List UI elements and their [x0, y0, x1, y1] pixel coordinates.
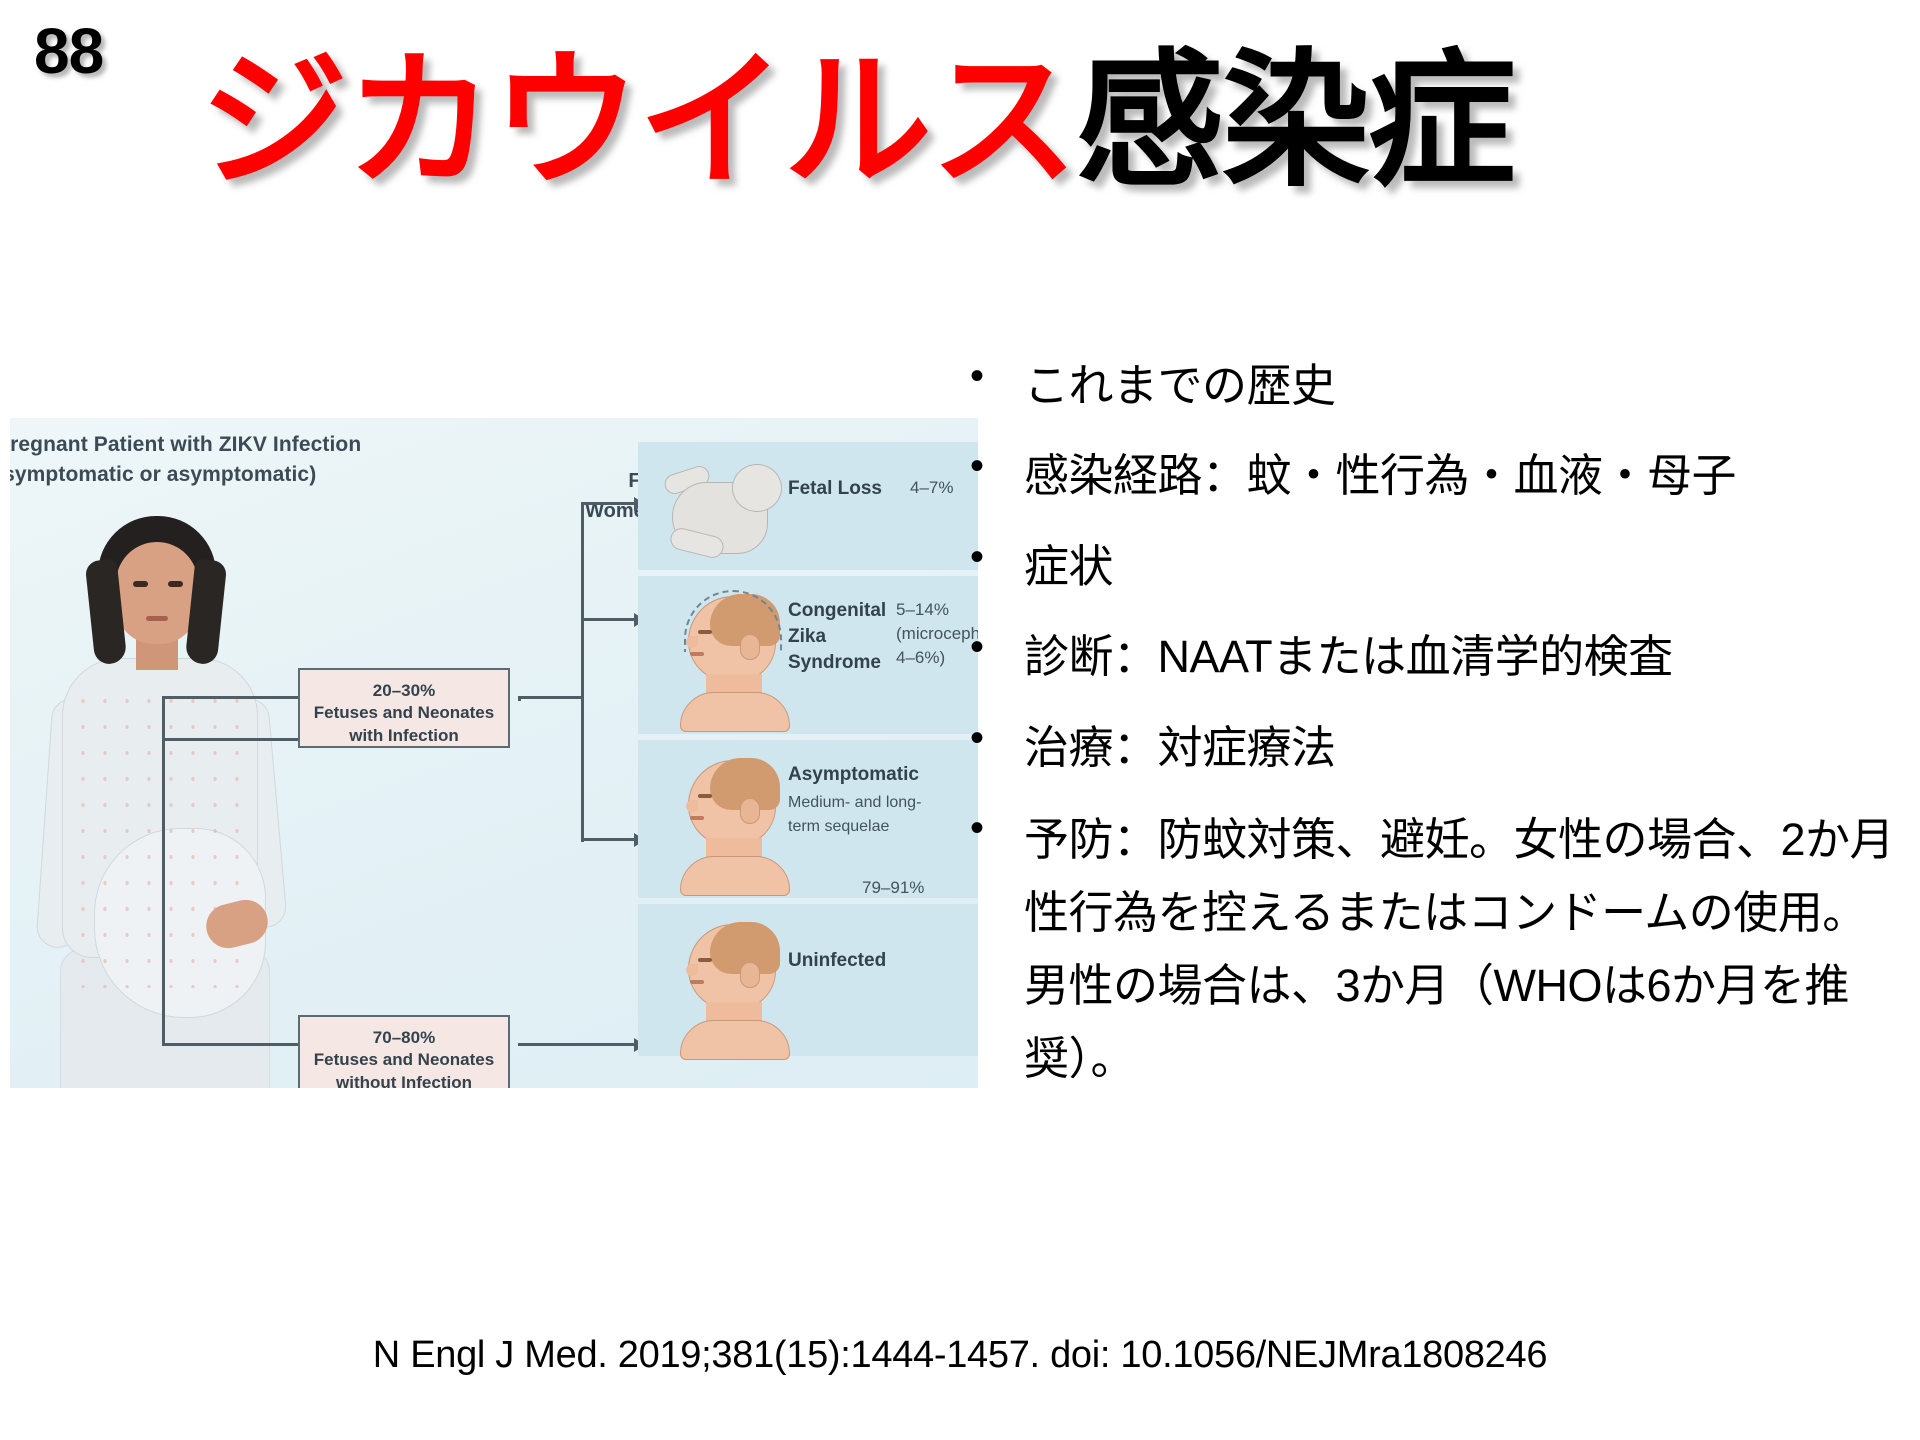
baby-microcephaly-illustration: [666, 592, 796, 728]
connector-to-infected: [162, 696, 298, 699]
figure-header-left-line2: (symptomatic or asymptomatic): [10, 460, 361, 490]
slide-number: 88: [34, 14, 103, 88]
flow-box-uninfected: 70–80% Fetuses and Neonates without Infe…: [298, 1015, 510, 1088]
baby-mouth: [690, 652, 704, 656]
page-title: ジカウイルス感染症: [200, 38, 1860, 207]
citation-text: N Engl J Med. 2019;381(15):1444-1457. do…: [0, 1334, 1920, 1377]
bullet-marker: •: [962, 804, 1024, 853]
panel-sub-asymptomatic-line2: term sequelae: [788, 816, 948, 838]
connector-to-uninfected: [162, 1043, 298, 1046]
eye-right: [168, 581, 183, 587]
baby-eye: [698, 958, 712, 962]
baby-nose: [686, 964, 698, 976]
figure-header-left: Pregnant Patient with ZIKV Infection (sy…: [10, 430, 361, 491]
panel-label-czs-line3: Syndrome: [788, 650, 908, 676]
bullet-text: 予防：防蚊対策、避妊。女性の場合、2か月性行為を控えるまたはコンドームの使用。男…: [1024, 804, 1904, 1096]
baby-shoulder: [680, 692, 790, 732]
pregnant-woman-illustration: [20, 498, 290, 1078]
connector-branch-czs: [581, 618, 635, 621]
slide-canvas: 88 ジカウイルス感染症 Pregnant Patient with ZIKV …: [0, 0, 1920, 1440]
outcome-panel-congenital-zika: Congenital Zika Syndrome 5–14% (microcep…: [638, 576, 978, 734]
bullet-text: これまでの歴史: [1024, 352, 1904, 420]
outcome-panel-asymptomatic: Asymptomatic Medium- and long- term sequ…: [638, 740, 978, 898]
outcome-panel-fetal-loss: Fetal Loss 4–7%: [638, 442, 978, 570]
list-item: • 予防：防蚊対策、避妊。女性の場合、2か月性行為を控えるまたはコンドームの使用…: [962, 804, 1904, 1096]
connector-infected-right: [518, 696, 584, 699]
eye-left: [133, 581, 148, 587]
flow-box-infected-line2: with Infection: [308, 725, 500, 747]
flow-box-infected-line1: Fetuses and Neonates: [308, 702, 500, 724]
flow-box-uninfected-line2: without Infection: [308, 1072, 500, 1088]
mouth-shape: [146, 616, 168, 621]
panel-label-uninfected: Uninfected: [788, 948, 978, 974]
panel-sub-asymptomatic-line1: Medium- and long-: [788, 792, 948, 814]
flow-box-infected-pct: 20–30%: [308, 680, 500, 702]
baby-ear: [740, 798, 760, 824]
connector-branch-vertical: [581, 502, 584, 842]
panel-label-czs-line2: Zika: [788, 624, 908, 650]
baby-mouth: [690, 816, 704, 820]
baby-shoulder: [680, 856, 790, 896]
bullet-marker: •: [962, 442, 1024, 491]
connector-uninfected-right: [518, 1043, 636, 1046]
flow-box-uninfected-line1: Fetuses and Neonates: [308, 1049, 500, 1071]
nejm-figure: Pregnant Patient with ZIKV Infection (sy…: [10, 418, 978, 1088]
fetus-illustration: [660, 454, 790, 574]
baby-ear: [740, 962, 760, 988]
title-black-part: 感染症: [1076, 39, 1514, 204]
list-item: • これまでの歴史: [962, 352, 1904, 420]
bullet-marker: •: [962, 352, 1024, 401]
outcome-panel-uninfected: Uninfected: [638, 904, 978, 1056]
baby-mouth: [690, 980, 704, 984]
baby-shoulder: [680, 1020, 790, 1060]
figure-floating-percentage: 79–91%: [862, 878, 924, 898]
connector-branch-fetal-loss: [581, 502, 635, 505]
bullet-text: 治療：対症療法: [1024, 714, 1904, 782]
list-item: • 感染経路：蚊・性行為・血液・母子: [962, 442, 1904, 510]
baby-eye: [698, 794, 712, 798]
panel-label-czs-line1: Congenital: [788, 598, 908, 624]
face-shape: [116, 542, 198, 644]
baby-eye: [698, 630, 712, 634]
figure-header-left-line1: Pregnant Patient with ZIKV Infection: [10, 430, 361, 460]
bullet-marker: •: [962, 623, 1024, 672]
baby-asymptomatic-illustration: [666, 756, 796, 892]
flow-box-infected: 20–30% Fetuses and Neonates with Infecti…: [298, 668, 510, 748]
fetus-head: [732, 464, 782, 512]
connector-branch-asymptomatic: [581, 838, 635, 841]
bullet-text: 診断：NAATまたは血清学的検査: [1024, 623, 1904, 691]
baby-uninfected-illustration: [666, 920, 796, 1056]
list-item: • 治療：対症療法: [962, 714, 1904, 782]
list-item: • 症状: [962, 533, 1904, 601]
connector-trunk-vertical: [162, 696, 165, 1046]
bullet-text: 症状: [1024, 533, 1904, 601]
flow-box-uninfected-pct: 70–80%: [308, 1027, 500, 1049]
panel-label-asymptomatic: Asymptomatic: [788, 762, 978, 788]
bullet-text: 感染経路：蚊・性行為・血液・母子: [1024, 442, 1904, 510]
list-item: • 診断：NAATまたは血清学的検査: [962, 623, 1904, 691]
baby-nose: [686, 800, 698, 812]
title-red-part: ジカウイルス: [200, 39, 1076, 204]
bullet-marker: •: [962, 714, 1024, 763]
bullet-marker: •: [962, 533, 1024, 582]
baby-nose: [686, 636, 698, 648]
baby-ear: [740, 634, 760, 660]
connector-trunk-horizontal: [162, 738, 298, 741]
bullet-list: • これまでの歴史 • 感染経路：蚊・性行為・血液・母子 • 症状 • 診断：N…: [962, 352, 1904, 1106]
